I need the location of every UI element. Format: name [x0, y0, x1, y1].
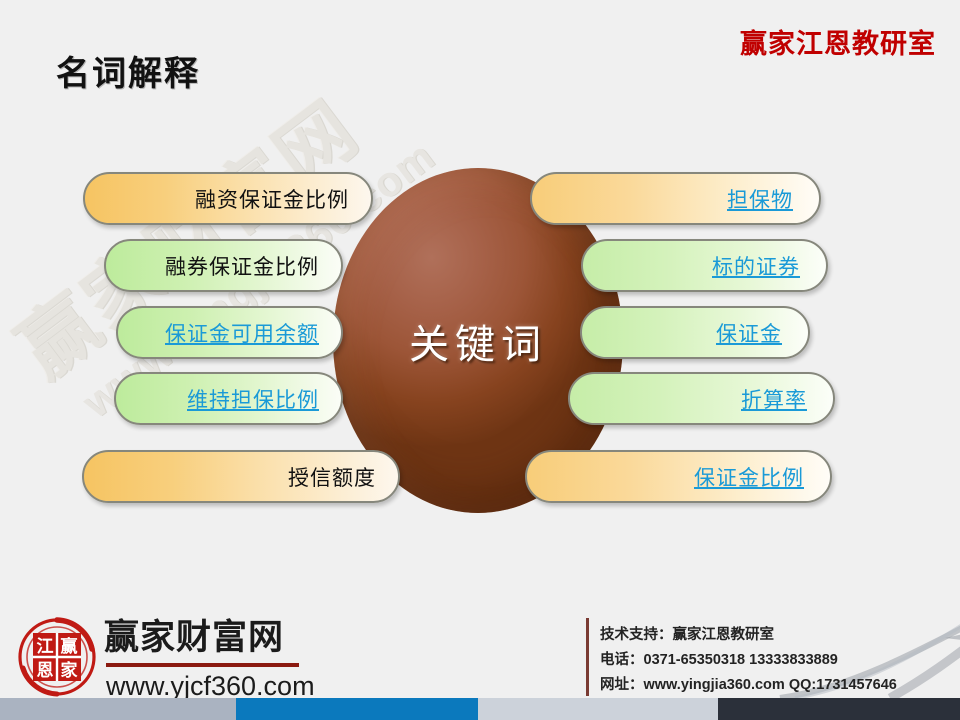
footer-brand-name: 赢家财富网 — [104, 609, 284, 660]
page-title: 名词解释 — [56, 46, 200, 95]
concept-pill-left-5[interactable]: 授信额度 — [82, 450, 400, 503]
concept-pill-left-1[interactable]: 融资保证金比例 — [83, 172, 373, 225]
concept-pill-label: 保证金 — [716, 318, 782, 348]
footer-contact-line-1: 技术支持：赢家江恩教研室 — [600, 623, 897, 648]
bottom-bar-segment-slate — [0, 698, 236, 720]
concept-pill-right-3[interactable]: 保证金 — [580, 306, 810, 359]
bottom-bar-segment-dark — [718, 698, 960, 720]
bottom-bar-segment-light — [478, 698, 718, 720]
seal-char-1: 赢 — [61, 636, 78, 656]
concept-pill-left-4[interactable]: 维持担保比例 — [114, 372, 343, 425]
bottom-color-bar — [0, 698, 960, 720]
seal-char-3: 家 — [61, 660, 78, 680]
concept-pill-label: 保证金可用余额 — [165, 318, 319, 348]
seal-char-2: 恩 — [37, 661, 54, 680]
company-seal-logo: 江 赢 恩 家 — [16, 616, 98, 698]
concept-pill-label: 保证金比例 — [694, 462, 804, 492]
concept-pill-label: 担保物 — [727, 184, 793, 214]
slide-canvas: 赢家江恩教研室 名词解释 赢家财富网 www.yingjia360.com 关键… — [0, 0, 960, 720]
footer-vertical-divider — [586, 618, 589, 696]
seal-char-0: 江 — [37, 637, 54, 656]
concept-pill-left-3[interactable]: 保证金可用余额 — [116, 306, 343, 359]
concept-pill-label: 折算率 — [741, 384, 807, 414]
concept-pill-left-2[interactable]: 融券保证金比例 — [104, 239, 343, 292]
concept-pill-right-4[interactable]: 折算率 — [568, 372, 835, 425]
concept-pill-right-5[interactable]: 保证金比例 — [525, 450, 832, 503]
concept-pill-label: 融资保证金比例 — [195, 184, 349, 214]
footer-contact-info: 技术支持：赢家江恩教研室电话：0371-65350318 13333833889… — [600, 623, 897, 698]
bottom-bar-segment-blue — [236, 698, 478, 720]
concept-pill-label: 标的证券 — [712, 251, 800, 281]
footer-divider-rule — [106, 663, 299, 667]
concept-pill-label: 融券保证金比例 — [165, 251, 319, 281]
concept-pill-right-1[interactable]: 担保物 — [530, 172, 821, 225]
footer-contact-line-2: 电话：0371-65350318 13333833889 — [600, 648, 897, 673]
footer-contact-line-3: 网址：www.yingjia360.com QQ:1731457646 — [600, 673, 897, 698]
concept-pill-label: 维持担保比例 — [187, 384, 319, 414]
brand-header-red: 赢家江恩教研室 — [740, 22, 936, 61]
concept-pill-label: 授信额度 — [288, 462, 376, 492]
concept-pill-right-2[interactable]: 标的证券 — [581, 239, 828, 292]
